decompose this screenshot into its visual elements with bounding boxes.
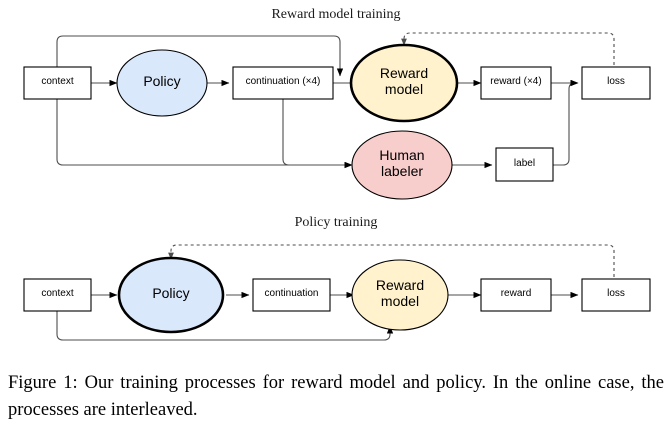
node-reward-model-bottom[interactable] bbox=[352, 260, 448, 330]
node-continuation-top[interactable] bbox=[233, 67, 333, 99]
node-loss-top[interactable] bbox=[582, 67, 650, 99]
node-policy-bottom[interactable] bbox=[119, 258, 223, 332]
figure-container: Reward model training Policy training bbox=[0, 0, 672, 448]
reward-training-nodes bbox=[24, 45, 650, 199]
node-loss-bottom[interactable] bbox=[582, 279, 650, 311]
node-label[interactable] bbox=[496, 148, 553, 181]
edge-context-to-human-labeler bbox=[57, 99, 352, 165]
edge-label-to-loss bbox=[553, 83, 578, 165]
edge-continuation-to-human-labeler bbox=[283, 99, 352, 165]
node-context-bottom[interactable] bbox=[24, 279, 91, 311]
node-human-labeler[interactable] bbox=[352, 131, 452, 199]
figure-caption: Figure 1: Our training processes for rew… bbox=[8, 370, 664, 424]
node-reward-top[interactable] bbox=[481, 67, 551, 99]
node-policy-top[interactable] bbox=[117, 50, 207, 116]
node-reward-model-top[interactable] bbox=[351, 45, 457, 121]
edge-context-to-reward-model-bottom bbox=[57, 311, 390, 340]
node-continuation-bottom[interactable] bbox=[253, 279, 330, 311]
node-reward-bottom[interactable] bbox=[481, 279, 551, 311]
node-context-top[interactable] bbox=[24, 67, 91, 99]
